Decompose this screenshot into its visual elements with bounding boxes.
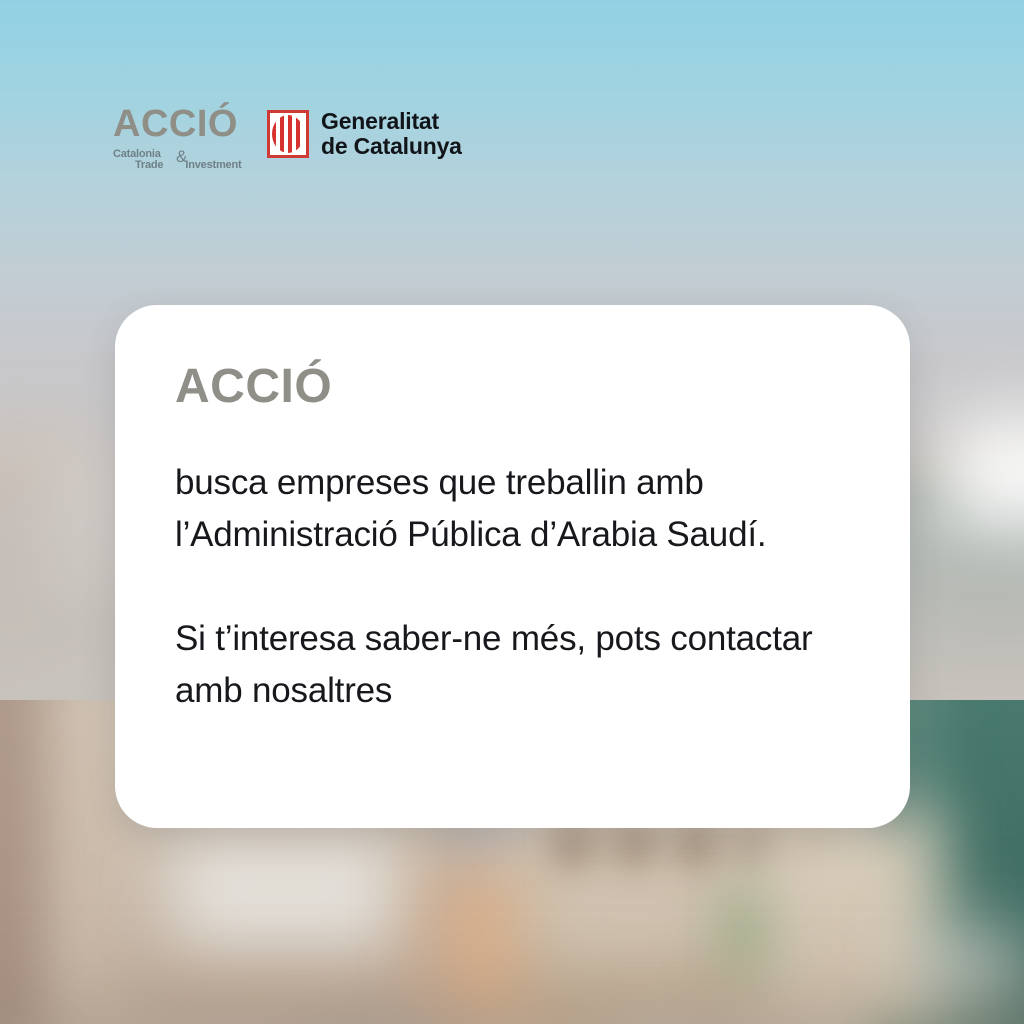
generalitat-logo[interactable]: Generalitat de Catalunya	[267, 103, 462, 159]
social-card-canvas: ACCIÓ Catalonia TradeInvestment & Genera…	[0, 0, 1024, 1024]
cloud	[940, 400, 1024, 530]
ampersand-icon: &	[176, 151, 187, 162]
senyera-stripes-icon	[272, 115, 304, 153]
accio-tagline: Catalonia TradeInvestment &	[113, 147, 243, 177]
catalonia-shield-icon	[267, 110, 309, 158]
generalitat-text: Generalitat de Catalunya	[321, 109, 462, 159]
bottom-shadow	[0, 960, 1024, 1024]
generalitat-line2: de Catalunya	[321, 134, 462, 159]
card-paragraph-2: Si t’interesa saber-ne més, pots contact…	[175, 613, 850, 717]
logo-bar: ACCIÓ Catalonia TradeInvestment & Genera…	[113, 103, 462, 177]
accio-tagline-line2: TradeInvestment	[135, 160, 241, 171]
message-card: ACCIÓ busca empreses que treballin amb l…	[115, 305, 910, 828]
accio-wordmark: ACCIÓ	[113, 105, 243, 143]
accio-tagline-trade: Trade	[135, 159, 163, 171]
accio-tagline-investment: Investment	[185, 159, 241, 171]
generalitat-line1: Generalitat	[321, 109, 462, 134]
card-title: ACCIÓ	[175, 363, 850, 411]
card-paragraph-1: busca empreses que treballin amb l’Admin…	[175, 457, 850, 561]
building-mid-white	[170, 830, 400, 950]
accio-logo[interactable]: ACCIÓ Catalonia TradeInvestment &	[113, 103, 243, 177]
